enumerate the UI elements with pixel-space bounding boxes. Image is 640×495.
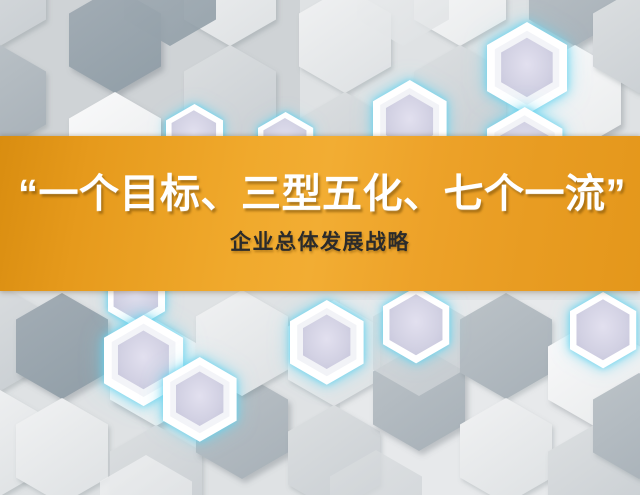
- title-banner: “一个目标、三型五化、七个一流” 企业总体发展战略: [0, 136, 640, 291]
- page-subtitle: 企业总体发展战略: [230, 230, 410, 255]
- page-title: “一个目标、三型五化、七个一流”: [14, 172, 626, 217]
- title-slide: “一个目标、三型五化、七个一流” 企业总体发展战略: [0, 0, 640, 495]
